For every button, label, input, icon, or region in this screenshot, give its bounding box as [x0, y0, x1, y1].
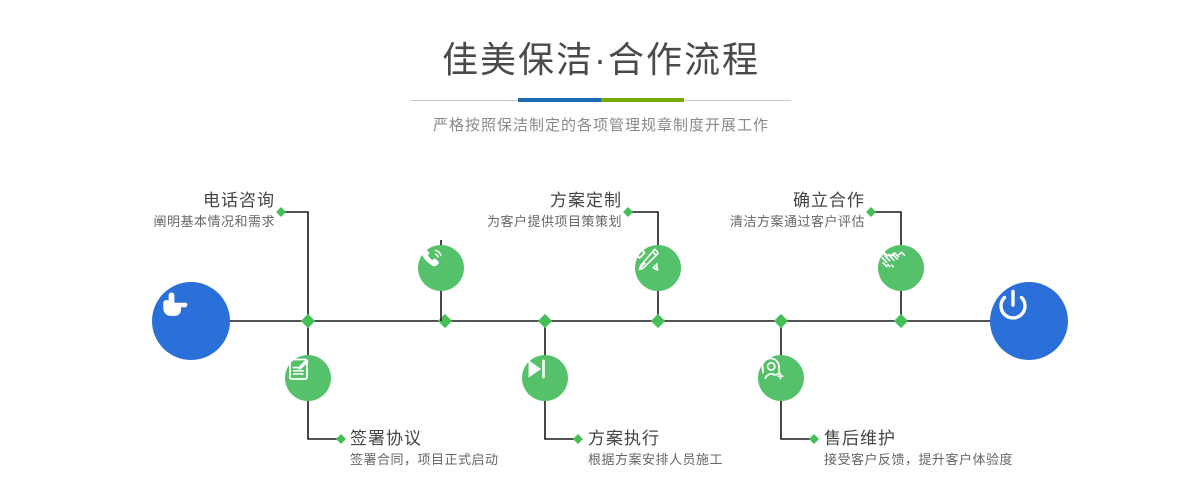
- step-title-2: 签署协议: [350, 428, 499, 450]
- flow-end-node[interactable]: [990, 282, 1068, 360]
- pointing-hand-icon: [152, 282, 196, 326]
- step-title-1: 电话咨询: [0, 190, 275, 212]
- label-diamond: [573, 434, 583, 444]
- page-subtitle: 严格按照保洁制定的各项管理规章制度开展工作: [0, 106, 1202, 136]
- label-diamond: [336, 434, 346, 444]
- timeline-diamond: [301, 314, 315, 328]
- step-icon-pencil-ruler[interactable]: [635, 245, 681, 291]
- step-desc-5: 清洁方案通过客户评估: [640, 212, 865, 232]
- divider-green-segment: [601, 98, 684, 102]
- label-diamond: [809, 434, 819, 444]
- pencil-ruler-icon: [635, 245, 663, 273]
- step-label-4: 方案执行 根据方案安排人员施工: [588, 428, 723, 470]
- label-diamond: [623, 207, 633, 217]
- step-label-5: 确立合作 清洁方案通过客户评估: [640, 190, 865, 232]
- timeline-diamond: [894, 314, 908, 328]
- flow-start-node[interactable]: [152, 282, 230, 360]
- timeline-diamond: [438, 314, 452, 328]
- page-title: 佳美保洁·合作流程: [0, 0, 1202, 82]
- handshake-icon: [878, 245, 906, 273]
- step-desc-2: 签署合同，项目正式启动: [350, 450, 499, 470]
- step-desc-4: 根据方案安排人员施工: [588, 450, 723, 470]
- play-skip-icon: [522, 355, 550, 383]
- step-icon-play-skip[interactable]: [522, 355, 568, 401]
- power-icon: [990, 282, 1036, 328]
- step-desc-6: 接受客户反馈，提升客户体验度: [824, 450, 1013, 470]
- timeline-diamond: [651, 314, 665, 328]
- step-icon-document-edit[interactable]: [285, 355, 331, 401]
- divider-blue-segment: [518, 98, 601, 102]
- step-desc-3: 为客户提供项目策策划: [300, 212, 622, 232]
- step-label-2: 签署协议 签署合同，项目正式启动: [350, 428, 499, 470]
- document-edit-icon: [285, 355, 313, 383]
- title-divider: [411, 96, 791, 106]
- step-label-6: 售后维护 接受客户反馈，提升客户体验度: [824, 428, 1013, 470]
- step-title-3: 方案定制: [300, 190, 622, 212]
- step-icon-handshake[interactable]: [878, 245, 924, 291]
- timeline-diamond: [774, 314, 788, 328]
- step-title-6: 售后维护: [824, 428, 1013, 450]
- step-label-1: 电话咨询 阐明基本情况和需求: [0, 190, 275, 232]
- step-title-4: 方案执行: [588, 428, 723, 450]
- flow-diagram: 电话咨询 阐明基本情况和需求 方案定制 为客户提供项目策策划 确立合作 清洁方案…: [0, 150, 1202, 502]
- step-title-5: 确立合作: [640, 190, 865, 212]
- phone-call-icon: [418, 245, 446, 273]
- step-desc-1: 阐明基本情况和需求: [0, 212, 275, 232]
- step-label-3: 方案定制 为客户提供项目策策划: [300, 190, 622, 232]
- label-diamond: [276, 207, 286, 217]
- step-icon-headset-support[interactable]: [758, 355, 804, 401]
- process-flow-infographic: 佳美保洁·合作流程 严格按照保洁制定的各项管理规章制度开展工作: [0, 0, 1202, 502]
- step-icon-phone-call[interactable]: [418, 245, 464, 291]
- headset-support-icon: [758, 355, 786, 383]
- label-diamond: [866, 207, 876, 217]
- page-header: 佳美保洁·合作流程 严格按照保洁制定的各项管理规章制度开展工作: [0, 0, 1202, 136]
- timeline-diamond: [538, 314, 552, 328]
